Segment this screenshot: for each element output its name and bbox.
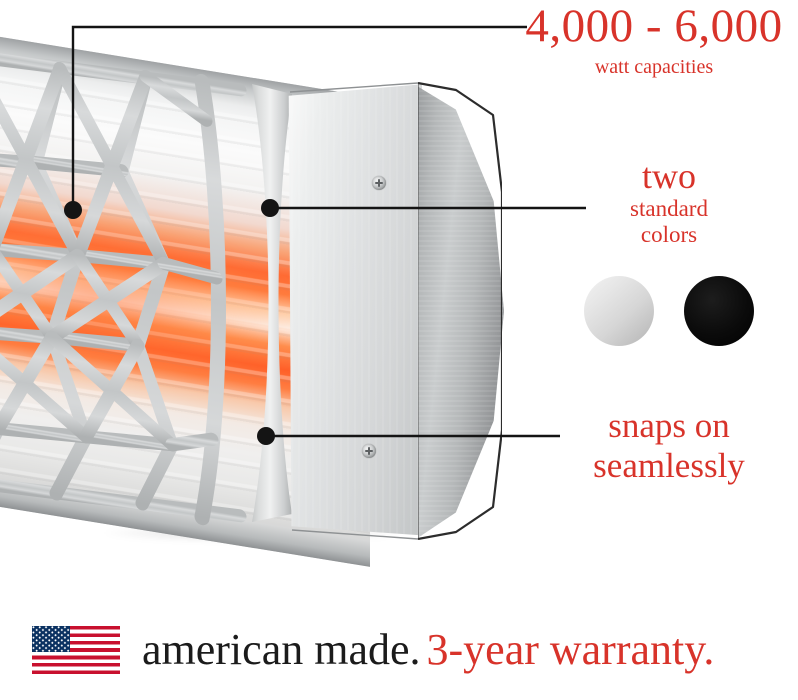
end-cap-bevel-brushing (418, 82, 504, 540)
silver-swatch[interactable] (584, 276, 654, 346)
banner-text-group: american made.3-year warranty. (142, 626, 714, 674)
callout-watt-capacities: 4,000 - 6,000 watt capacities (510, 0, 798, 79)
end-cap-face (286, 82, 422, 540)
color-swatch-group (540, 276, 798, 346)
watt-capacities-subline: watt capacities (510, 55, 798, 79)
two-standard-colors-headline: two (540, 156, 798, 196)
callout-snaps-on-seamlessly: snaps on seamlessly (540, 406, 798, 486)
screw-top-icon (372, 176, 386, 190)
american-made-text: american made. (142, 625, 421, 674)
warranty-text: 3-year warranty. (427, 625, 715, 674)
product-photo (0, 0, 520, 580)
end-cap-bevel (418, 82, 504, 540)
end-cap (286, 82, 502, 540)
watt-capacities-headline: 4,000 - 6,000 (510, 0, 798, 52)
bottom-banner: american made.3-year warranty. (0, 600, 798, 700)
marketing-image: 4,000 - 6,000 watt capacities two standa… (0, 0, 798, 700)
flag-canton (32, 626, 70, 652)
black-swatch[interactable] (684, 276, 754, 346)
american-flag-icon (32, 626, 120, 674)
screw-bottom-icon (362, 444, 376, 458)
snaps-on-line-2: seamlessly (540, 446, 798, 486)
flag-stars (32, 626, 70, 652)
two-standard-colors-subline-1: standard (540, 196, 798, 222)
callout-two-standard-colors: two standard colors (540, 156, 798, 248)
snaps-on-line-1: snaps on (540, 406, 798, 446)
end-cap-face-brushing (286, 82, 422, 540)
two-standard-colors-subline-2: colors (540, 222, 798, 248)
end-cap-seam (418, 84, 419, 538)
